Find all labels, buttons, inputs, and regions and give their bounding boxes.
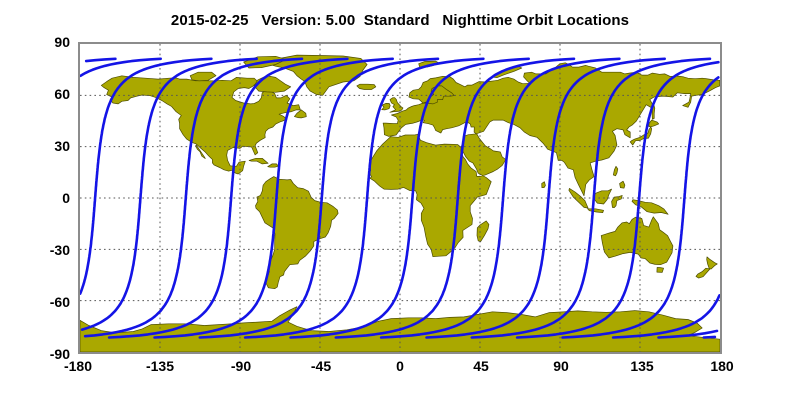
y-tick-label: 90 xyxy=(14,34,78,50)
x-tick-label: -180 xyxy=(38,358,118,374)
x-tick-label: -135 xyxy=(120,358,200,374)
y-tick-label: 0 xyxy=(14,190,78,206)
x-tick-label: 180 xyxy=(682,358,762,374)
x-tick-label: -90 xyxy=(201,358,281,374)
x-tick-label: 90 xyxy=(521,358,601,374)
orbit-track xyxy=(704,337,715,338)
x-tick-label: 135 xyxy=(602,358,682,374)
map-plot-area[interactable] xyxy=(78,42,722,354)
y-tick-label: -30 xyxy=(14,242,78,258)
y-tick-label: 60 xyxy=(14,86,78,102)
y-tick-label: -60 xyxy=(14,294,78,310)
landmass xyxy=(657,268,664,273)
x-axis: -180 -135 -90 -45 0 45 90 135 180 xyxy=(0,358,800,382)
y-axis: 90 60 30 0 -30 -60 -90 xyxy=(0,0,78,400)
x-tick-label: -45 xyxy=(281,358,361,374)
orbit-map-figure: 2015-02-25 Version: 5.00 Standard Nightt… xyxy=(0,0,800,400)
y-tick-label: 30 xyxy=(14,138,78,154)
world-map-svg xyxy=(80,44,720,352)
x-tick-label: 0 xyxy=(360,358,440,374)
landmass xyxy=(357,84,376,89)
x-tick-label: 45 xyxy=(441,358,521,374)
page-title: 2015-02-25 Version: 5.00 Standard Nightt… xyxy=(0,12,800,29)
